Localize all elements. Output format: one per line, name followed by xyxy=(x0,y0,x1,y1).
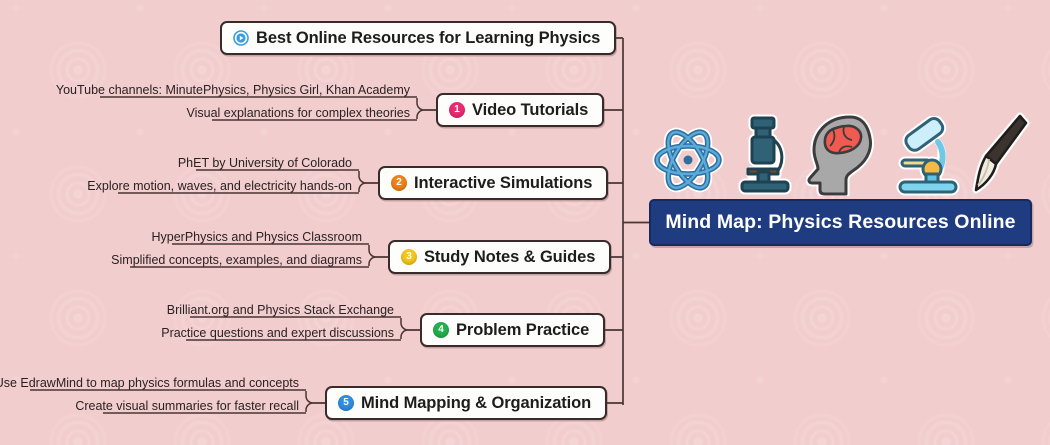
topic-node-label: Best Online Resources for Learning Physi… xyxy=(256,29,600,48)
number-badge-5: 5 xyxy=(338,395,354,411)
topic-node-mind-mapping-organization[interactable]: 5 Mind Mapping & Organization xyxy=(325,386,607,420)
topic-node-label: Study Notes & Guides xyxy=(424,248,595,267)
subtopic-node[interactable]: Brilliant.org and Physics Stack Exchange xyxy=(190,298,401,318)
subtopic-label: Practice questions and expert discussion… xyxy=(154,327,401,342)
head-brain-icon xyxy=(806,114,878,196)
number-badge-3: 3 xyxy=(401,249,417,265)
subtopic-node[interactable]: Explore motion, waves, and electricity h… xyxy=(118,174,359,194)
topic-node-study-notes-guides[interactable]: 3 Study Notes & Guides xyxy=(388,240,611,274)
paintbrush-icon xyxy=(972,112,1030,196)
atom-icon xyxy=(652,120,724,196)
topic-node-best-online-resources[interactable]: Best Online Resources for Learning Physi… xyxy=(220,21,616,55)
topic-node-label: Interactive Simulations xyxy=(414,174,592,193)
subtopic-label: YouTube channels: MinutePhysics, Physics… xyxy=(49,84,417,99)
topic-node-label: Mind Mapping & Organization xyxy=(361,394,591,413)
mind-map-canvas: Mind Map: Physics Resources Online Best … xyxy=(0,0,1050,445)
subtopic-label: Brilliant.org and Physics Stack Exchange xyxy=(160,304,401,319)
subtopic-label: Visual explanations for complex theories xyxy=(179,107,417,122)
play-circle-icon xyxy=(233,30,249,46)
microscope-light-icon xyxy=(888,116,962,196)
subtopic-label: Use EdrawMind to map physics formulas an… xyxy=(0,377,306,392)
number-badge-4: 4 xyxy=(433,322,449,338)
subtopic-node[interactable]: Visual explanations for complex theories xyxy=(212,101,417,121)
subtopic-node[interactable]: Simplified concepts, examples, and diagr… xyxy=(130,248,369,268)
decorative-icon-strip xyxy=(648,104,1034,196)
subtopic-label: Explore motion, waves, and electricity h… xyxy=(80,180,359,195)
topic-node-problem-practice[interactable]: 4 Problem Practice xyxy=(420,313,605,347)
subtopic-node[interactable]: Create visual summaries for faster recal… xyxy=(103,394,306,414)
central-topic-node[interactable]: Mind Map: Physics Resources Online xyxy=(649,199,1032,246)
topic-node-label: Video Tutorials xyxy=(472,101,588,120)
subtopic-label: Create visual summaries for faster recal… xyxy=(68,400,306,415)
subtopic-label: PhET by University of Colorado xyxy=(171,157,359,172)
topic-node-video-tutorials[interactable]: 1 Video Tutorials xyxy=(436,93,604,127)
number-badge-2: 2 xyxy=(391,175,407,191)
subtopic-node[interactable]: PhET by University of Colorado xyxy=(196,151,359,171)
subtopic-node[interactable]: Use EdrawMind to map physics formulas an… xyxy=(30,371,306,391)
topic-node-label: Problem Practice xyxy=(456,321,589,340)
subtopic-node[interactable]: HyperPhysics and Physics Classroom xyxy=(172,225,369,245)
number-badge-1: 1 xyxy=(449,102,465,118)
central-topic-label: Mind Map: Physics Resources Online xyxy=(665,211,1015,234)
subtopic-label: HyperPhysics and Physics Classroom xyxy=(145,231,370,246)
topic-node-interactive-simulations[interactable]: 2 Interactive Simulations xyxy=(378,166,608,200)
subtopic-node[interactable]: Practice questions and expert discussion… xyxy=(186,321,401,341)
subtopic-label: Simplified concepts, examples, and diagr… xyxy=(104,254,369,269)
subtopic-node[interactable]: YouTube channels: MinutePhysics, Physics… xyxy=(100,78,417,98)
microscope-dark-icon xyxy=(734,114,796,196)
